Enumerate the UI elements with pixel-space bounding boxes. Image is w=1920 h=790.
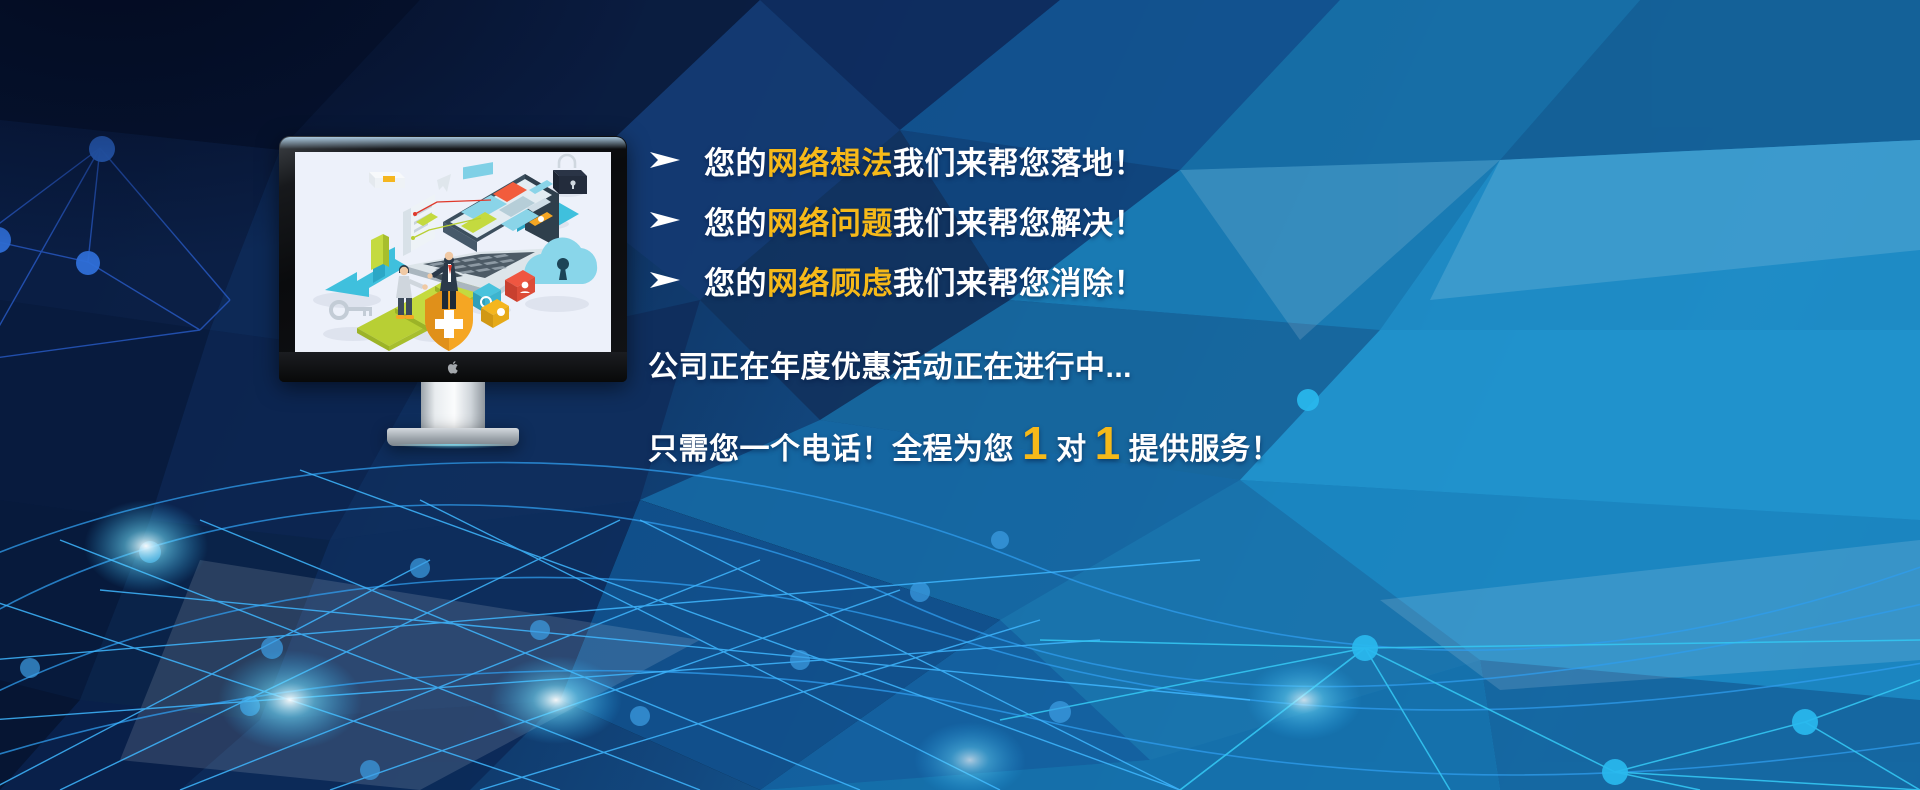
promo-banner: 您的网络想法我们来帮您落地！ 您的网络问题我们来帮您解决！ 您的网络顾虑我们来帮… [0,0,1920,790]
monitor-bezel [279,136,627,382]
bullet-pre: 您的 [704,266,767,301]
bullet-row: 您的网络顾虑我们来帮您消除！ [648,250,1368,310]
promo-part-2: 提供服务！ [1129,424,1282,468]
arrow-bullet-icon [648,150,682,170]
apple-logo-icon [447,360,460,375]
promo-number-one-a: 1 [1014,420,1056,466]
bullet-highlight: 网络顾虑 [767,266,893,301]
monitor-chin [279,352,627,382]
bullet-text: 您的网络问题我们来帮您解决！ [704,198,1145,243]
bullet-post: 我们来帮您解决！ [893,206,1145,241]
arrow-bullet-icon [648,270,682,290]
promo-part-1: 只需您一个电话！全程为您 [648,424,1014,468]
bullet-row: 您的网络想法我们来帮您落地！ [648,130,1368,190]
bullet-highlight: 网络想法 [767,146,893,181]
bullet-post: 我们来帮您落地！ [893,146,1145,181]
monitor-stand-neck [421,382,485,434]
promo-line-2: 只需您一个电话！全程为您 1 对 1 提供服务！ [648,420,1368,468]
battery-icon [369,172,405,188]
bullet-text: 您的网络想法我们来帮您落地！ [704,138,1145,183]
promo-mid: 对 [1056,424,1087,468]
marketing-copy: 您的网络想法我们来帮您落地！ 您的网络问题我们来帮您解决！ 您的网络顾虑我们来帮… [648,130,1368,468]
promo-number-one-b: 1 [1087,420,1129,466]
arrow-bullet-icon [648,210,682,230]
bullet-text: 您的网络顾虑我们来帮您消除！ [704,258,1145,303]
monitor-stand-foot [387,428,519,446]
isometric-network-scene [295,152,611,352]
bullet-post: 我们来帮您消除！ [893,266,1145,301]
promo-line-1: 公司正在年度优惠活动正在进行中... [648,342,1368,386]
monitor-screen [295,152,611,352]
bullet-pre: 您的 [704,146,767,181]
bullet-row: 您的网络问题我们来帮您解决！ [648,190,1368,250]
desktop-monitor-illustration [279,136,627,446]
bullet-pre: 您的 [704,206,767,241]
bullet-highlight: 网络问题 [767,206,893,241]
